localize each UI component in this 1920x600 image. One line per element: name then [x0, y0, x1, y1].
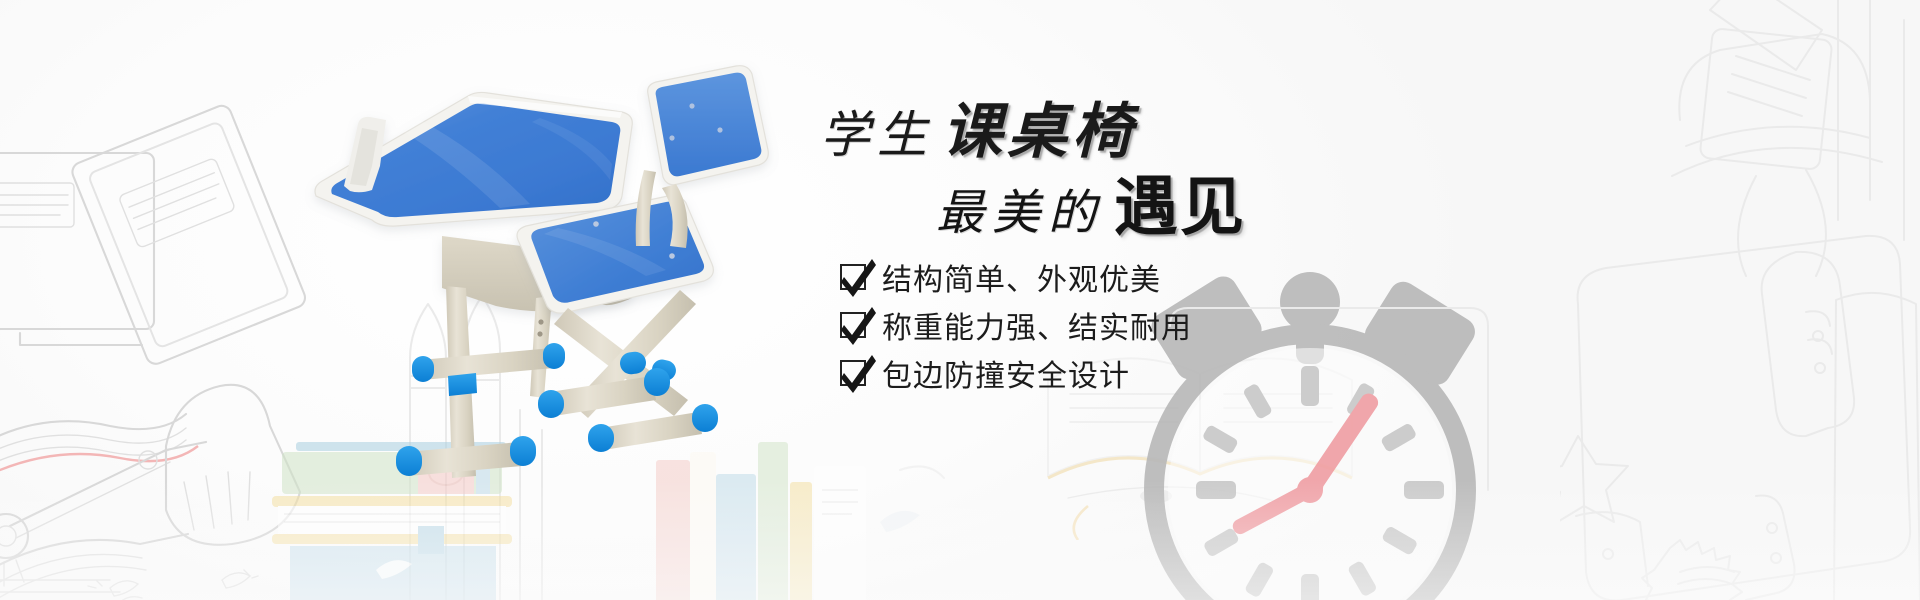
checkbox-checked-icon	[840, 264, 866, 290]
feature-text: 称重能力强、结实耐用	[882, 303, 1192, 347]
desk-frame	[396, 286, 565, 478]
satchel-sketch	[1560, 228, 1920, 600]
backpack-sketch	[1560, 0, 1920, 400]
headline-line-2-bold: 遇见	[1114, 172, 1246, 243]
feature-text: 包边防撞安全设计	[882, 351, 1130, 395]
feature-list: 结构简单、外观优美 称重能力强、结实耐用 包边防撞安全设计	[840, 260, 1192, 390]
notebook-sketch	[0, 105, 260, 405]
headline-copy-block: 学生课桌椅 最美的遇见 结构简单、外观优美 称重能力强	[820, 88, 1440, 388]
headline-line-2: 最美的遇见	[936, 176, 1246, 240]
list-item: 称重能力强、结实耐用	[840, 308, 1192, 342]
headline-line-2-light: 最美的	[936, 187, 1114, 240]
list-item: 结构简单、外观优美	[840, 260, 1192, 294]
right-edge-sketch	[1830, 0, 1920, 600]
feature-text: 结构简单、外观优美	[882, 255, 1161, 299]
product-desk-and-chair-image	[300, 60, 860, 480]
headline-line-1: 学生课桌椅	[820, 102, 1137, 162]
promo-banner: 学生课桌椅 最美的遇见 结构简单、外观优美 称重能力强	[0, 0, 1920, 600]
headline-line-1-bold: 课桌椅	[942, 99, 1137, 165]
checkbox-checked-icon	[840, 360, 866, 386]
list-item: 包边防撞安全设计	[840, 356, 1192, 390]
headline-line-1-light: 学生	[820, 107, 942, 163]
checkbox-checked-icon	[840, 312, 866, 338]
